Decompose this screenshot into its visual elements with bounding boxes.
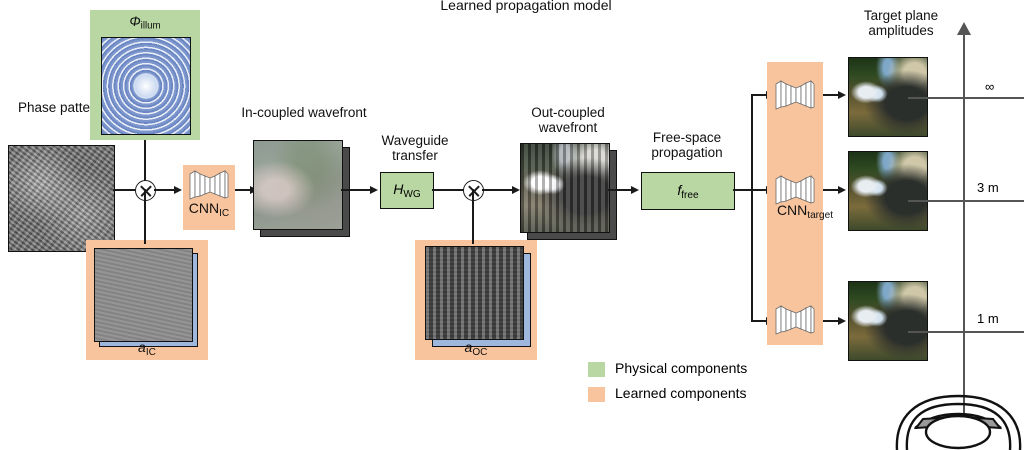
a-oc-subscript: OC	[472, 347, 487, 358]
legend-label-physical: Physical components	[615, 360, 747, 376]
illum-pattern-image	[101, 37, 191, 135]
target-plane-amplitudes-label: Target plane amplitudes	[838, 8, 964, 38]
target-image-bottom	[848, 281, 928, 361]
h-wg-box: HWG	[380, 172, 434, 209]
phase-pattern-texture	[9, 146, 114, 251]
in-coupled-texture	[254, 141, 342, 229]
phase-to-multiply-line	[113, 189, 135, 191]
cnntarget-to-target-arrow-bottom	[838, 317, 846, 325]
depth-tick-3m	[908, 200, 1024, 202]
outcoupled-to-ffree-arrow	[631, 186, 639, 194]
cnn-ic-text: CNN	[189, 200, 219, 216]
multiply-to-cnnic-line	[154, 189, 176, 191]
depth-tick-infinity	[908, 97, 1024, 99]
multiply-to-outcoupled-arrow	[512, 186, 520, 194]
a-oc-to-multiply-line	[472, 189, 474, 244]
cnn-ic-icon	[188, 170, 230, 200]
free-space-propagation-label: Free-space propagation	[636, 130, 738, 160]
waveguide-transfer-label: Waveguide transfer	[366, 133, 464, 163]
depth-axis-arrowhead	[956, 22, 972, 36]
page-title: Learned propagation model	[386, 0, 666, 13]
a-ic-image	[94, 248, 193, 342]
illum-center-glow	[133, 73, 159, 99]
cnn-ic-label: CNNIC	[183, 201, 235, 221]
out-coupled-stripes	[521, 144, 609, 232]
cnntarget-to-target-arrow-middle	[838, 186, 846, 194]
splitter-trunk	[751, 95, 753, 321]
a-ic-subscript: IC	[146, 347, 156, 358]
target-image-middle-texture	[849, 152, 927, 230]
depth-tick-label-1m: 1 m	[977, 311, 999, 326]
a-ic-label: aIC	[86, 340, 208, 360]
h-wg-subscript: WG	[403, 189, 420, 200]
illum-symbol: Φ	[129, 14, 140, 29]
cnn-target-icon-middle	[772, 175, 818, 205]
h-wg-symbol: H	[393, 181, 403, 197]
eye-diagram-icon	[893, 388, 1024, 450]
target-image-bottom-texture	[849, 282, 927, 360]
in-coupled-wavefront-label: In-coupled wavefront	[241, 105, 367, 120]
out-coupled-wavefront-image	[520, 143, 610, 233]
legend-label-learned: Learned components	[615, 385, 747, 401]
multiply-to-outcoupled-line	[482, 189, 514, 191]
incoupled-to-hwg-line	[341, 189, 373, 191]
legend-swatch-physical	[588, 362, 605, 377]
legend-swatch-learned	[588, 387, 605, 402]
incoupled-to-hwg-arrow	[370, 186, 378, 194]
a-ic-to-multiply-line	[144, 189, 146, 244]
cnn-target-text: CNN	[777, 202, 807, 218]
f-free-box: ffree	[641, 172, 735, 210]
cnn-target-icon-top	[772, 80, 818, 110]
hwg-to-multiply-line	[432, 189, 464, 191]
cnntarget-to-target-arrow-top	[838, 91, 846, 99]
out-coupled-wavefront-label: Out-coupled wavefront	[505, 105, 631, 135]
target-image-middle	[848, 151, 928, 231]
cnn-ic-subscript: IC	[219, 208, 229, 219]
phase-pattern-image	[8, 145, 115, 252]
cnn-target-icon-bottom	[772, 305, 818, 335]
depth-tick-1m	[908, 331, 1024, 333]
ffree-to-splitter-line	[733, 189, 753, 191]
illum-subscript: illum	[141, 21, 161, 32]
illum-label: Φillum	[90, 14, 200, 34]
depth-axis-line	[963, 30, 965, 420]
a-oc-label: aOC	[415, 340, 537, 360]
cnn-target-label: CNNtarget	[760, 203, 850, 223]
multiply-to-cnnic-arrow	[174, 186, 182, 194]
a-oc-image	[425, 246, 524, 340]
depth-tick-label-infinity: ∞	[985, 79, 994, 94]
depth-tick-label-3m: 3 m	[977, 180, 999, 195]
a-ic-symbol: a	[138, 339, 146, 355]
a-ic-texture	[95, 249, 192, 341]
in-coupled-wavefront-image	[253, 140, 343, 230]
f-free-subscript: free	[681, 189, 698, 200]
cnn-target-subscript: target	[807, 210, 833, 221]
a-oc-texture	[426, 247, 523, 339]
